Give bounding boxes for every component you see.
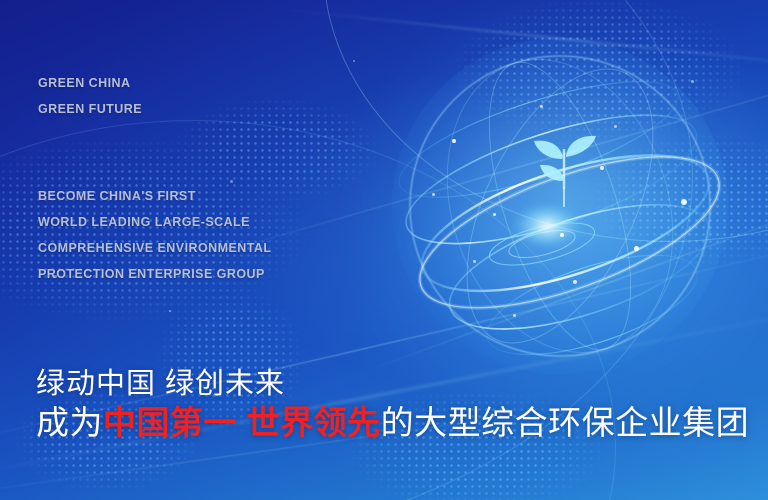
headline-accent: 中国第一 世界领先 (103, 404, 381, 441)
mission-block: BECOME CHINA'S FIRST WORLD LEADING LARGE… (38, 183, 271, 287)
headline-prefix: 成为 (36, 404, 103, 441)
mission-line-2: WORLD LEADING LARGE-SCALE (38, 209, 271, 235)
hero-banner: GREEN CHINA GREEN FUTURE BECOME CHINA'S … (0, 0, 768, 500)
particle-dot (169, 310, 171, 312)
tagline-block: GREEN CHINA GREEN FUTURE (38, 70, 142, 122)
mission-line-3: COMPREHENSIVE ENVIRONMENTAL (38, 235, 271, 261)
headline-line-2: 成为中国第一 世界领先的大型综合环保企业集团 (36, 402, 749, 444)
mission-line-1: BECOME CHINA'S FIRST (38, 183, 271, 209)
headline-line-1: 绿动中国 绿创未来 (36, 366, 749, 402)
tagline-line-1: GREEN CHINA (38, 70, 142, 96)
particle-dot (691, 80, 694, 83)
tagline-line-2: GREEN FUTURE (38, 96, 142, 122)
headline-suffix: 的大型综合环保企业集团 (381, 404, 750, 441)
particle-dot (353, 60, 355, 62)
headline-block: 绿动中国 绿创未来 成为中国第一 世界领先的大型综合环保企业集团 (36, 366, 749, 444)
mission-line-4: PROTECTION ENTERPRISE GROUP (38, 261, 271, 287)
